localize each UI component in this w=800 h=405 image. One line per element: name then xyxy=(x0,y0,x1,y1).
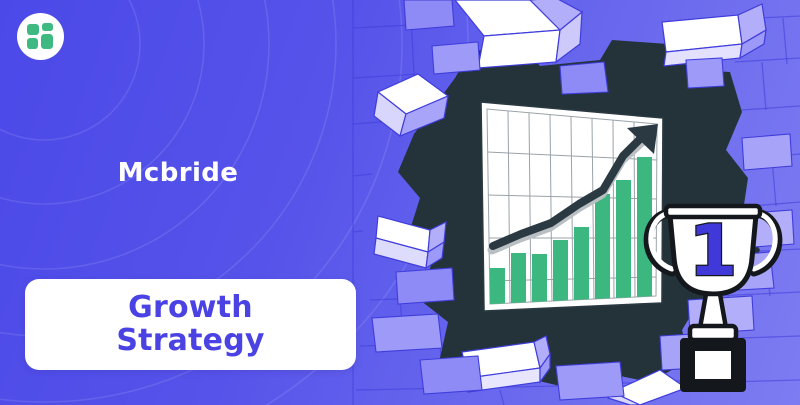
title-line-2: Strategy xyxy=(116,325,264,357)
trophy-stem xyxy=(700,294,726,328)
brand-logo[interactable] xyxy=(17,13,64,60)
title-card: Growth Strategy xyxy=(25,279,356,370)
trophy-rank-number: 1 xyxy=(689,210,738,292)
trophy-foot xyxy=(690,326,736,340)
flying-brick-top-right xyxy=(662,4,766,66)
trophy-plaque xyxy=(694,350,732,380)
title-line-1: Growth xyxy=(128,292,253,324)
grid-squares-logo-icon xyxy=(27,23,54,50)
growth-chart-panel xyxy=(481,102,663,311)
growth-strategy-banner: 1 Mcbride Growth Strategy xyxy=(0,0,800,405)
brand-name: Mcbride xyxy=(0,158,356,188)
